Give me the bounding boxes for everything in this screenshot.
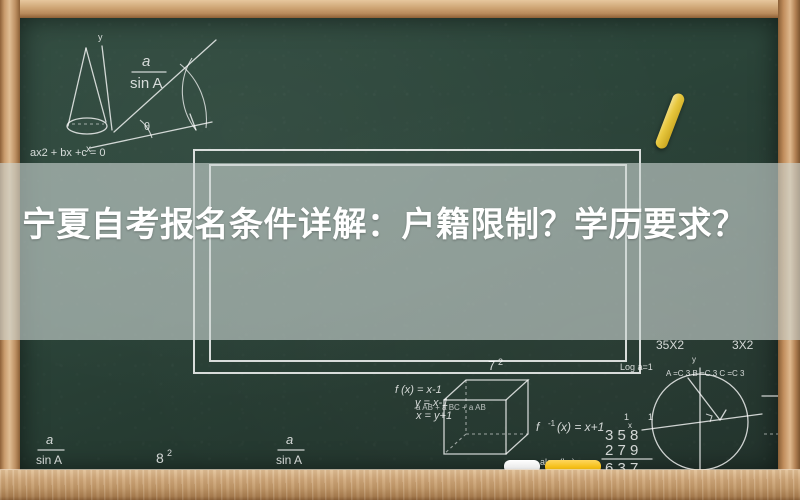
- svg-text:2: 2: [167, 448, 172, 458]
- chalk-seven-exponent: 2: [498, 357, 503, 367]
- chalk-35x2: 35X2: [656, 338, 684, 352]
- chalk-a-over-sina-center-lower: a sin A: [276, 432, 304, 467]
- page-title: 宁夏自考报名条件详解：户籍限制？学历要求？: [22, 202, 784, 248]
- svg-text:x: x: [86, 144, 91, 155]
- svg-text:8: 8: [156, 450, 164, 466]
- chalk-inverse-function: f -1 (x) = x+1: [536, 419, 604, 434]
- svg-text:a: a: [46, 432, 53, 447]
- title-overlay-band: [0, 163, 800, 340]
- wood-frame-top: [0, 0, 800, 18]
- svg-text:(x) = x+1: (x) = x+1: [557, 420, 604, 434]
- svg-text:3 5 8: 3 5 8: [605, 427, 638, 444]
- chalk-axes-angle-group: y x θ: [86, 32, 216, 155]
- svg-text:y = x-1: y = x-1: [414, 397, 448, 409]
- chalk-log-a1: Log a=1: [620, 362, 653, 372]
- chalk-eight-squared: 8 2: [156, 448, 172, 466]
- svg-text:sin A: sin A: [36, 453, 62, 467]
- chalk-tray-ledge: [0, 470, 800, 500]
- svg-text:y: y: [98, 32, 103, 42]
- chalk-cube-right: [762, 396, 778, 434]
- svg-text:1: 1: [648, 412, 653, 422]
- svg-text:x = y+1: x = y+1: [415, 410, 452, 422]
- chalk-cube-center: [444, 380, 528, 454]
- chalk-small-sum-expression: a AB + a BC + a AB: [416, 403, 486, 412]
- chalk-long-division: 3 5 8 2 7 9 6 3 7 1 1: [602, 412, 653, 472]
- svg-text:θ: θ: [144, 121, 150, 133]
- svg-text:a: a: [286, 432, 293, 447]
- svg-text:y: y: [692, 355, 696, 364]
- chalk-a-over-sina-left-lower: a sin A: [36, 432, 64, 467]
- chalk-formula-a-over-sina-topleft: a sin A: [130, 53, 166, 92]
- chalk-function-block-center: f (x) = x-1 y = x-1 x = y+1: [395, 384, 452, 422]
- chalk-quadratic-equation: ax2 + bx +c = 0: [30, 147, 106, 159]
- svg-text:1: 1: [624, 412, 629, 422]
- svg-text:a: a: [142, 53, 150, 70]
- svg-text:-1: -1: [548, 419, 556, 428]
- svg-text:2 7 9: 2 7 9: [605, 442, 638, 459]
- svg-text:sin A: sin A: [276, 453, 302, 467]
- svg-text:x: x: [628, 421, 632, 430]
- chalk-3x2: 3X2: [732, 338, 754, 352]
- chalk-set-expressions: A =C 3 B =C 3 C =C 3: [666, 369, 745, 378]
- chalkboard-banner: a sin A y x θ ax2 + bx +c = 0 f (x) = x-…: [0, 0, 800, 500]
- chalk-cone-group: [67, 48, 107, 134]
- chalk-seven-squared: 7: [488, 358, 495, 373]
- svg-text:f: f: [536, 420, 541, 434]
- chalk-circle-diagram: x y: [628, 355, 762, 470]
- svg-text:sin A: sin A: [130, 75, 163, 92]
- svg-text:f (x) = x-1: f (x) = x-1: [395, 384, 442, 396]
